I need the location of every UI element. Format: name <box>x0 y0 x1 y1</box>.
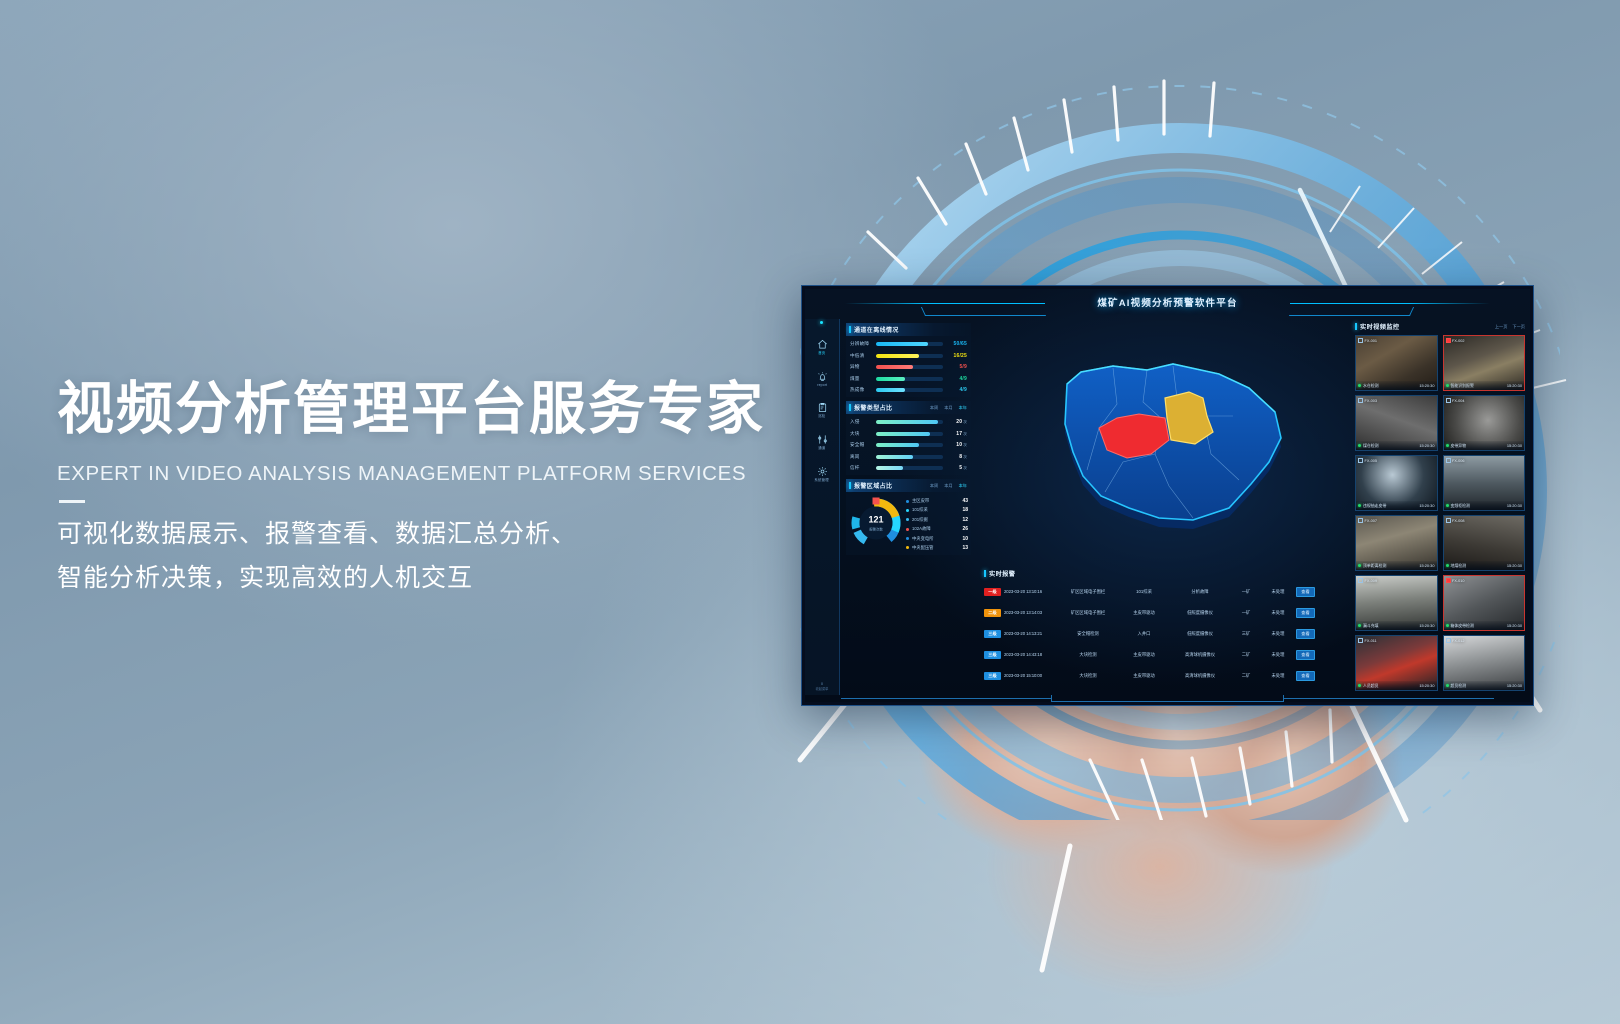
alarm-level-badge: 二级 <box>984 609 1001 617</box>
video-time: 15:20:30 <box>1419 443 1434 448</box>
view-button[interactable]: 查看 <box>1296 608 1315 618</box>
alarm-mine: 三矿 <box>1232 631 1260 637</box>
status-dot-online <box>1358 684 1361 687</box>
video-code: FX-008 <box>1446 518 1465 523</box>
status-dot-online <box>1358 444 1361 447</box>
alarm-type-row: 信杆 5次 <box>850 465 967 471</box>
legend-label: 主区皮带 <box>912 498 959 504</box>
alarm-type-track <box>876 443 943 447</box>
alarm-icon <box>817 371 828 382</box>
alarm-type: 低照度摄像仪 <box>1171 631 1229 637</box>
video-code: FX-006 <box>1446 458 1465 463</box>
video-footer: 漏斗充填 15:20:30 <box>1356 621 1437 630</box>
video-footer: 超员检测 15:20:30 <box>1444 681 1525 690</box>
legend-label: 101综采 <box>912 507 959 513</box>
alarm-source: 大块检测 <box>1059 673 1117 679</box>
channel-bar-track <box>876 388 943 392</box>
video-footer: 皮带异物 15:20:30 <box>1444 441 1525 450</box>
channel-bar-fill <box>876 342 928 346</box>
legend-label: 中央变电所 <box>912 536 959 542</box>
alarm-type-row: 离岗 8次 <box>850 454 967 460</box>
channel-bar-label: 热成像 <box>850 387 872 393</box>
video-name: 人员超员 <box>1363 683 1379 689</box>
alarm-type-track <box>876 420 943 424</box>
camera-icon <box>1358 578 1363 583</box>
alarm-type-fill <box>876 432 930 436</box>
hero-text-block: 视频分析管理平台服务专家 EXPERT IN VIDEO ANALYSIS MA… <box>57 378 817 600</box>
sidebar-item-alarm[interactable]: report <box>817 371 828 387</box>
video-time: 15:20:30 <box>1507 443 1522 448</box>
alarm-type-value: 17次 <box>947 431 967 437</box>
video-panel-title: 实时视频监控 <box>1360 322 1400 331</box>
video-footer: 水仓检测 15:20:30 <box>1356 381 1437 390</box>
legend-item: 101综采 18 <box>906 507 968 513</box>
alarm-mine: 一矿 <box>1232 610 1260 616</box>
alarm-area-panel: 报警区域占比 本周 本月 本年 <box>846 479 971 555</box>
status-dot-online <box>1446 684 1449 687</box>
alarm-area-panel-title: 报警区域占比 <box>854 481 892 490</box>
alarm-level-badge: 一级 <box>984 588 1001 596</box>
accent-bar <box>1355 323 1357 330</box>
tab-year[interactable]: 本年 <box>958 405 968 411</box>
legend-value: 13 <box>962 545 968 551</box>
view-button[interactable]: 查看 <box>1296 587 1315 597</box>
alarm-type-label: 安全帽 <box>850 442 872 448</box>
sidebar-label-system: 系统管理 <box>815 478 829 483</box>
alarm-type-label: 离岗 <box>850 454 872 460</box>
alarm-area-chart-wrap: 121 报警次数 主区皮带 43 101综采 18 <box>846 492 971 555</box>
channel-bar-fill <box>876 365 913 369</box>
sidebar-item-system[interactable]: 系统管理 <box>814 466 829 483</box>
table-row[interactable]: 三级 2023-03-20 14:43:18 大块检测 主皮带驱动 高清球机摄像… <box>984 644 1344 665</box>
video-name: 漏斗充填 <box>1363 623 1379 629</box>
alarm-type-label: 大块 <box>850 431 872 437</box>
tab-year[interactable]: 本年 <box>958 483 968 489</box>
channel-bar-row: 中低清 16/25 <box>850 353 967 359</box>
sidebar-label-inspection: 巡检 <box>818 414 825 419</box>
hero-description-line-1: 可视化数据展示、报警查看、数据汇总分析、 <box>57 513 817 557</box>
next-page-button[interactable]: 下一页 <box>1512 324 1525 330</box>
video-tile[interactable]: FX-012 超员检测 15:20:30 <box>1443 635 1526 691</box>
channel-bar-label: 异物 <box>850 364 872 370</box>
alarm-place: 主皮带驱动 <box>1120 673 1168 679</box>
table-row[interactable]: 三级 2023-03-20 14:13:21 安全帽检测 入井口 低照度摄像仪 … <box>984 623 1344 644</box>
alarm-type-row: 大块 17次 <box>850 431 967 437</box>
video-monitor-column: 实时视频监控 上一页 下一页 FX-001 水仓检测 15:20:30 <box>1352 319 1530 695</box>
status-dot-online <box>1446 564 1449 567</box>
sidebar-footer-label: 收起菜单 <box>805 686 839 691</box>
video-tile[interactable]: FX-005 违规抽走皮带 15:20:30 <box>1355 455 1438 511</box>
alarm-type-tab-group: 本周 本月 本年 <box>929 405 968 411</box>
sidebar-label-home: 首页 <box>818 351 825 356</box>
legend-label: 201综掘 <box>912 517 959 523</box>
video-footer: 智能识别报警 15:20:30 <box>1444 381 1525 390</box>
alarm-type: 高清球机摄像仪 <box>1171 652 1229 658</box>
video-code: FX-002 <box>1446 338 1465 343</box>
channel-bar-row: 热成像 4/9 <box>850 387 967 393</box>
alarm-type-panel-title: 报警类型占比 <box>854 403 892 412</box>
video-code: FX-001 <box>1358 338 1377 343</box>
legend-swatch <box>906 509 909 512</box>
legend-swatch <box>906 518 909 521</box>
alarm-type-track <box>876 432 943 436</box>
alarm-type-bar-list: 入侵 20次 大块 17次 安全帽 10次 离 <box>846 414 971 475</box>
table-row[interactable]: 二级 2023-03-20 13:14:03 矿区区域电子围栏 主皮带驱动 低照… <box>984 602 1344 623</box>
video-tile[interactable]: FX-004 皮带异物 15:20:30 <box>1443 395 1526 451</box>
alarm-type-row: 安全帽 10次 <box>850 442 967 448</box>
video-name: 超员检测 <box>1451 683 1467 689</box>
alarm-type-track <box>876 455 943 459</box>
video-name: 变频柜检测 <box>1451 503 1470 509</box>
realtime-alarm-panel: 实时报警 一级 2023-03-20 13:10:16 矿区区域电子围栏 101… <box>976 567 1352 695</box>
accent-bar <box>984 570 986 577</box>
alarm-time: 2023-03-20 15:10:00 <box>1004 673 1056 678</box>
channel-bar-row: 分辨故障 50/65 <box>850 341 967 347</box>
alarm-area-tab-group: 本周 本月 本年 <box>929 483 968 489</box>
status-dot-online <box>1446 384 1449 387</box>
video-footer: 违规抽走皮带 15:20:30 <box>1356 501 1437 510</box>
video-code: FX-010 <box>1446 578 1465 583</box>
alarm-status: 未处理 <box>1263 631 1293 637</box>
legend-value: 10 <box>962 536 968 542</box>
prev-page-button[interactable]: 上一页 <box>1495 324 1508 330</box>
alarm-place: 101综采 <box>1120 589 1168 595</box>
video-tile[interactable]: FX-007 顶单距离检测 15:20:30 <box>1355 515 1438 571</box>
dashboard-monitor: 煤矿AI视频分析预警软件平台 首页 report <box>801 285 1534 706</box>
table-row[interactable]: 三级 2023-03-20 15:10:00 大块检测 主皮带驱动 高清球机摄像… <box>984 665 1344 686</box>
donut-center: 121 报警次数 <box>860 507 893 540</box>
alarm-source: 安全帽检测 <box>1059 631 1117 637</box>
video-footer: 煤仓检测 15:20:30 <box>1356 441 1437 450</box>
sidebar-item-inspection[interactable]: 巡检 <box>817 402 828 419</box>
status-dot-online <box>1358 624 1361 627</box>
camera-icon <box>1358 398 1363 403</box>
sidebar-label-channel: 通道 <box>818 446 825 451</box>
video-name: 智能识别报警 <box>1451 383 1474 389</box>
video-time: 15:20:30 <box>1419 623 1434 628</box>
alarm-type-value: 8次 <box>947 454 967 460</box>
legend-value: 26 <box>962 526 968 532</box>
camera-icon <box>1446 578 1451 583</box>
video-code: FX-012 <box>1446 638 1465 643</box>
alarm-source: 矿区区域电子围栏 <box>1059 610 1117 616</box>
channel-bar-fill <box>876 377 905 381</box>
alarm-level-badge: 三级 <box>984 630 1001 638</box>
video-code: FX-004 <box>1446 398 1465 403</box>
video-tile[interactable]: FX-003 煤仓检测 15:20:30 <box>1355 395 1438 451</box>
channel-bar-fill <box>876 354 919 358</box>
alarm-type-fill <box>876 466 903 470</box>
alarm-type-panel-header: 报警类型占比 本周 本月 本年 <box>846 401 971 414</box>
alarm-status: 未处理 <box>1263 673 1293 679</box>
alarm-source: 矿区区域电子围栏 <box>1059 589 1117 595</box>
channel-status-panel: 通道在离线情况 分辨故障 50/65 中低清 16/25 异物 <box>846 323 971 397</box>
channel-bar-track <box>876 342 943 346</box>
channel-bar-row: 异物 5/9 <box>850 364 967 370</box>
status-dot-online <box>1446 624 1449 627</box>
divider-rule <box>59 500 85 503</box>
donut-caption: 报警次数 <box>869 526 883 531</box>
channel-panel-header: 通道在离线情况 <box>846 323 971 336</box>
channel-panel-title: 通道在离线情况 <box>854 325 899 334</box>
camera-icon <box>1358 338 1363 343</box>
tab-week[interactable]: 本周 <box>929 405 939 411</box>
alarm-type: 高清球机摄像仪 <box>1171 673 1229 679</box>
dashboard-title: 煤矿AI视频分析预警软件平台 <box>805 295 1530 309</box>
video-time: 15:20:30 <box>1507 623 1522 628</box>
region-map[interactable] <box>976 319 1352 567</box>
alarm-type-row: 入侵 20次 <box>850 419 967 425</box>
donut-chart: 121 报警次数 <box>850 497 902 549</box>
video-tile[interactable]: FX-009 漏斗充填 15:20:30 <box>1355 575 1438 631</box>
alarm-time: 2023-03-20 14:13:21 <box>1004 631 1056 636</box>
clipboard-icon <box>817 402 828 413</box>
video-panel-header: 实时视频监控 上一页 下一页 <box>1355 322 1525 331</box>
view-button[interactable]: 查看 <box>1296 671 1315 681</box>
channel-bar-value: 16/25 <box>947 353 967 359</box>
donut-legend: 主区皮带 43 101综采 18 201综掘 12 <box>906 496 968 551</box>
video-name: 违规抽走皮带 <box>1363 503 1386 509</box>
alarm-type-track <box>876 466 943 470</box>
accent-bar <box>849 404 851 411</box>
video-code: FX-005 <box>1358 458 1377 463</box>
legend-label: 102A故障 <box>912 526 959 532</box>
alarm-type-fill <box>876 455 913 459</box>
video-footer: 变频柜检测 15:20:30 <box>1444 501 1525 510</box>
footer-line-right <box>1284 698 1494 699</box>
legend-label: 中央配压管 <box>912 545 959 551</box>
tab-month[interactable]: 本月 <box>943 483 953 489</box>
tab-month[interactable]: 本月 <box>943 405 953 411</box>
video-time: 15:20:30 <box>1419 383 1434 388</box>
video-time: 15:20:30 <box>1419 503 1434 508</box>
alarm-type-panel: 报警类型占比 本周 本月 本年 入侵 20次 大块 <box>846 401 971 475</box>
accent-bar <box>849 326 851 333</box>
alarm-mine: 二矿 <box>1232 673 1260 679</box>
alarm-type-fill <box>876 443 919 447</box>
channel-bar-fill <box>876 388 905 392</box>
realtime-alarm-title: 实时报警 <box>989 569 1015 578</box>
alarm-mine: 一矿 <box>1232 589 1260 595</box>
channel-bar-track <box>876 354 943 358</box>
dashboard-header: 煤矿AI视频分析预警软件平台 <box>805 289 1530 319</box>
video-code: FX-007 <box>1358 518 1377 523</box>
home-icon <box>817 339 828 350</box>
video-time: 15:20:30 <box>1507 503 1522 508</box>
dashboard-footer-decor <box>805 695 1530 702</box>
legend-value: 12 <box>962 517 968 523</box>
alarm-type-label: 信杆 <box>850 465 872 471</box>
left-panel-column: 通道在离线情况 分辨故障 50/65 中低清 16/25 异物 <box>840 319 976 695</box>
view-button[interactable]: 查看 <box>1296 650 1315 660</box>
alarm-area-panel-header: 报警区域占比 本周 本月 本年 <box>846 479 971 492</box>
alarm-table: 一级 2023-03-20 13:10:16 矿区区域电子围栏 101综采 分析… <box>984 581 1344 686</box>
sidebar-item-channel[interactable]: 通道 <box>817 434 828 451</box>
video-time: 15:20:30 <box>1507 683 1522 688</box>
status-dot-online <box>1358 564 1361 567</box>
legend-swatch <box>906 537 909 540</box>
video-tile[interactable]: FX-010 箱体皮带检测 15:20:30 <box>1443 575 1526 631</box>
video-code: FX-009 <box>1358 578 1377 583</box>
video-tile[interactable]: FX-002 智能识别报警 15:20:30 <box>1443 335 1526 391</box>
video-footer: 箱体皮带检测 15:20:30 <box>1444 621 1525 630</box>
video-name: 箱体皮带检测 <box>1451 623 1474 629</box>
video-pagination: 上一页 下一页 <box>1495 324 1525 330</box>
alarm-status: 未处理 <box>1263 610 1293 616</box>
status-dot-online <box>1358 504 1361 507</box>
footer-line-left <box>841 698 1051 699</box>
alarm-place: 入井口 <box>1120 631 1168 637</box>
alarm-level-badge: 三级 <box>984 672 1001 680</box>
alarm-source: 大块检测 <box>1059 652 1117 658</box>
channel-bar-row: 煤量 4/9 <box>850 376 967 382</box>
footer-notch <box>1051 695 1284 702</box>
channel-bar-value: 50/65 <box>947 341 967 347</box>
table-row[interactable]: 一级 2023-03-20 13:10:16 矿区区域电子围栏 101综采 分析… <box>984 581 1344 602</box>
realtime-alarm-header: 实时报警 <box>984 569 1344 578</box>
alarm-status: 未处理 <box>1263 652 1293 658</box>
alarm-status: 未处理 <box>1263 589 1293 595</box>
channel-bar-value: 4/9 <box>947 387 967 393</box>
status-dot-online <box>1446 504 1449 507</box>
status-dot-online <box>1446 444 1449 447</box>
channel-bar-list: 分辨故障 50/65 中低清 16/25 异物 5/9 <box>846 336 971 397</box>
center-column: 实时报警 一级 2023-03-20 13:10:16 矿区区域电子围栏 101… <box>976 319 1352 695</box>
video-tile[interactable]: FX-008 地煤检测 15:20:30 <box>1443 515 1526 571</box>
channel-bar-track <box>876 365 943 369</box>
video-name: 煤仓检测 <box>1363 443 1379 449</box>
video-time: 15:20:30 <box>1507 563 1522 568</box>
channel-bar-label: 煤量 <box>850 376 872 382</box>
alarm-place: 主皮带驱动 <box>1120 610 1168 616</box>
status-dot <box>820 321 823 324</box>
page-title: 视频分析管理平台服务专家 <box>57 378 817 442</box>
sidebar-item-home[interactable]: 首页 <box>817 339 828 356</box>
page-subtitle: EXPERT IN VIDEO ANALYSIS MANAGEMENT PLAT… <box>57 462 817 486</box>
video-footer: 地煤检测 15:20:30 <box>1444 561 1525 570</box>
status-dot-online <box>1358 384 1361 387</box>
alarm-mine: 二矿 <box>1232 652 1260 658</box>
legend-swatch <box>906 546 909 549</box>
camera-icon <box>1446 458 1451 463</box>
legend-swatch <box>906 528 909 531</box>
alarm-type: 分析故障 <box>1171 589 1229 595</box>
sidebar-label-alarm: report <box>817 383 827 387</box>
video-name: 皮带异物 <box>1451 443 1467 449</box>
video-footer: 顶单距离检测 15:20:30 <box>1356 561 1437 570</box>
alarm-type: 低照度摄像仪 <box>1171 610 1229 616</box>
alarm-type-fill <box>876 420 938 424</box>
camera-icon <box>1358 458 1363 463</box>
alarm-type-value: 20次 <box>947 419 967 425</box>
legend-swatch <box>906 500 909 503</box>
video-code: FX-003 <box>1358 398 1377 403</box>
camera-icon <box>1446 398 1451 403</box>
alarm-type-value: 10次 <box>947 442 967 448</box>
legend-item: 102A故障 26 <box>906 526 968 532</box>
channel-icon <box>817 434 828 445</box>
dashboard-sidebar: 首页 report 巡检 <box>805 319 840 695</box>
channel-bar-track <box>876 377 943 381</box>
alarm-time: 2023-03-20 13:14:03 <box>1004 610 1056 615</box>
alarm-level-badge: 三级 <box>984 651 1001 659</box>
alarm-place: 主皮带驱动 <box>1120 652 1168 658</box>
sidebar-footer[interactable]: 0 收起菜单 <box>805 681 839 691</box>
legend-value: 43 <box>962 498 968 504</box>
video-time: 15:20:30 <box>1419 683 1434 688</box>
legend-item: 中央变电所 10 <box>906 536 968 542</box>
view-button[interactable]: 查看 <box>1296 629 1315 639</box>
video-time: 15:20:30 <box>1419 563 1434 568</box>
alarm-type-label: 入侵 <box>850 419 872 425</box>
donut-total: 121 <box>868 516 883 525</box>
alarm-time: 2023-03-20 13:10:16 <box>1004 589 1056 594</box>
gear-icon <box>817 466 828 477</box>
accent-bar <box>849 482 851 489</box>
camera-icon <box>1358 638 1363 643</box>
camera-icon <box>1446 338 1451 343</box>
video-tile[interactable]: FX-011 人员超员 15:20:30 <box>1355 635 1438 691</box>
video-name: 地煤检测 <box>1451 563 1467 569</box>
video-tile[interactable]: FX-006 变频柜检测 15:20:30 <box>1443 455 1526 511</box>
camera-icon <box>1358 518 1363 523</box>
video-time: 15:20:30 <box>1507 383 1522 388</box>
alarm-time: 2023-03-20 14:43:18 <box>1004 652 1056 657</box>
legend-item: 201综掘 12 <box>906 517 968 523</box>
video-tile-grid: FX-001 水仓检测 15:20:30 FX-002 智能识别报警 15:20… <box>1355 335 1525 695</box>
video-name: 水仓检测 <box>1363 383 1379 389</box>
legend-value: 18 <box>962 507 968 513</box>
alarm-type-value: 5次 <box>947 465 967 471</box>
camera-icon <box>1446 638 1451 643</box>
video-code: FX-011 <box>1358 638 1377 643</box>
dashboard-screen: 煤矿AI视频分析预警软件平台 首页 report <box>805 289 1530 702</box>
channel-bar-label: 中低清 <box>850 353 872 359</box>
legend-item: 主区皮带 43 <box>906 498 968 504</box>
video-tile[interactable]: FX-001 水仓检测 15:20:30 <box>1355 335 1438 391</box>
legend-item: 中央配压管 13 <box>906 545 968 551</box>
camera-icon <box>1446 518 1451 523</box>
channel-bar-value: 5/9 <box>947 364 967 370</box>
video-footer: 人员超员 15:20:30 <box>1356 681 1437 690</box>
video-name: 顶单距离检测 <box>1363 563 1386 569</box>
channel-bar-label: 分辨故障 <box>850 341 872 347</box>
hero-description-line-2: 智能分析决策，实现高效的人机交互 <box>57 557 817 601</box>
channel-bar-value: 4/9 <box>947 376 967 382</box>
tab-week[interactable]: 本周 <box>929 483 939 489</box>
